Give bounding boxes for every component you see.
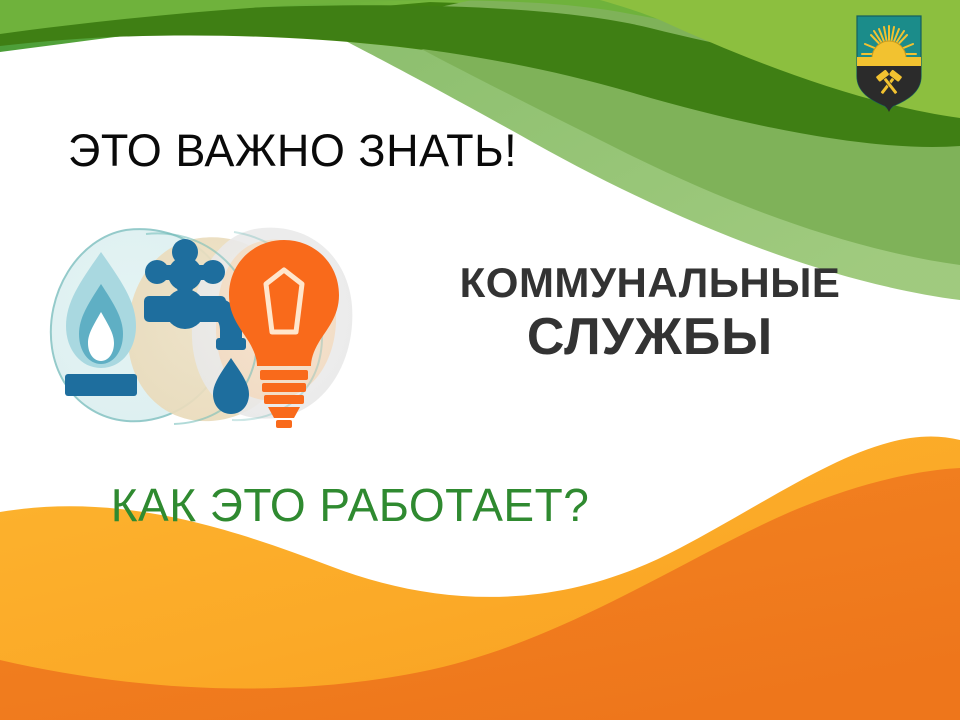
services-title-block: КОММУНАЛЬНЫЕ СЛУЖБЫ <box>380 262 920 364</box>
slide-canvas: ЭТО ВАЖНО ЗНАТЬ! КОММУНАЛЬНЫЕ СЛУЖБЫ КАК… <box>0 0 960 720</box>
utilities-illustration <box>34 222 364 438</box>
services-title-line2: СЛУЖБЫ <box>380 311 920 364</box>
coat-of-arms-emblem <box>853 14 925 112</box>
headline-important: ЭТО ВАЖНО ЗНАТЬ! <box>68 127 517 174</box>
headline-question: КАК ЭТО РАБОТАЕТ? <box>0 478 700 532</box>
services-title-line1: КОММУНАЛЬНЫЕ <box>380 262 920 305</box>
